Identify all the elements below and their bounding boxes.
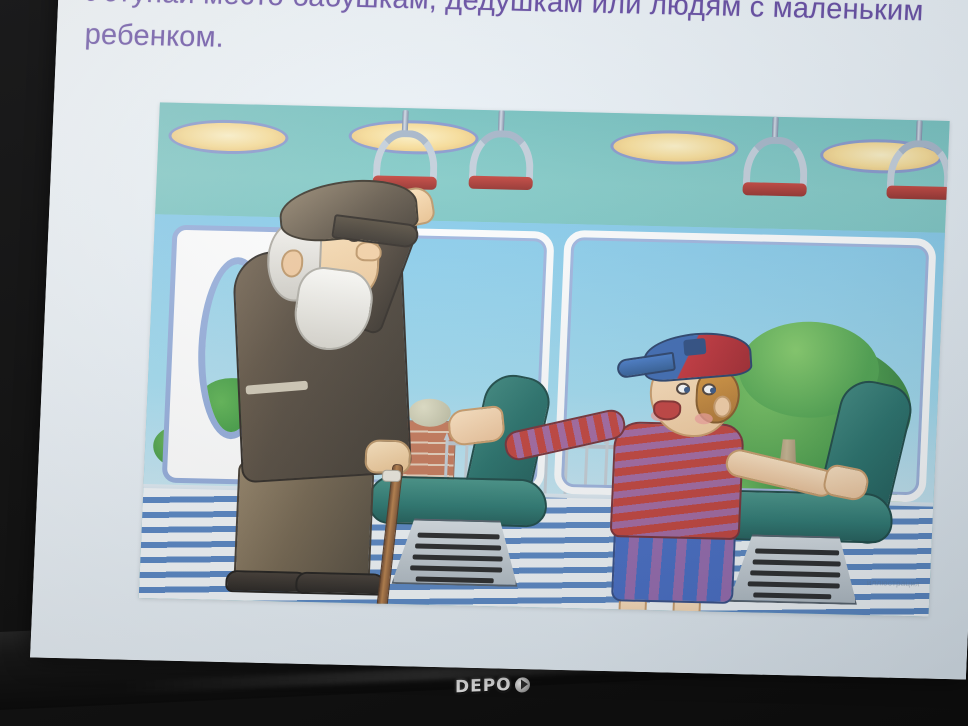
boy-cap-logo bbox=[683, 338, 706, 356]
monitor-brand-logo: DEPO bbox=[455, 670, 565, 701]
boy-striped-shirt bbox=[610, 421, 745, 540]
elderly-man-character bbox=[191, 160, 499, 597]
photograph-of-monitor: DEPO Уступай место бабушкам, дедушкам ил… bbox=[0, 0, 968, 726]
strap-grip bbox=[742, 182, 807, 196]
walking-cane bbox=[373, 464, 403, 617]
man-shoe bbox=[295, 572, 388, 596]
presentation-slide: Уступай место бабушкам, дедушкам или люд… bbox=[30, 0, 968, 679]
monitor-screen: Уступай место бабушкам, дедушкам или люд… bbox=[30, 0, 968, 679]
strap-grip bbox=[886, 185, 949, 199]
play-triangle-circle-icon bbox=[515, 677, 530, 693]
cane-grip-band bbox=[382, 470, 402, 482]
boy-character bbox=[569, 324, 851, 614]
bus-interior-illustration: иллюстрация bbox=[139, 102, 950, 616]
man-nose bbox=[355, 241, 382, 262]
slide-title: Уступай место бабушкам, дедушкам или люд… bbox=[84, 0, 967, 77]
monitor-brand-label: DEPO bbox=[455, 675, 512, 698]
